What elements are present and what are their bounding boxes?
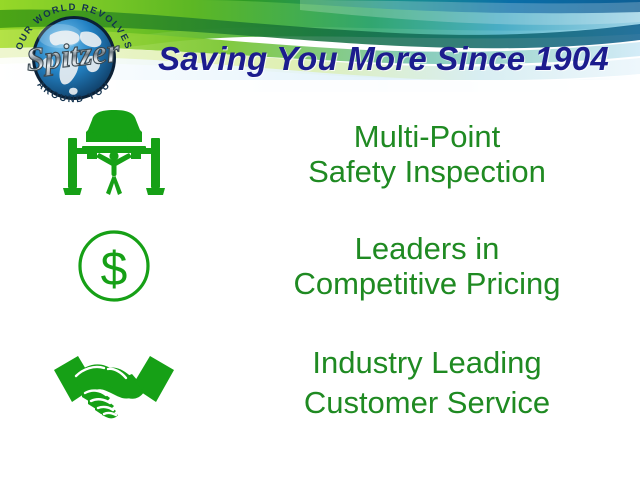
page-title: Saving You More Since 1904 [158,40,636,78]
feature-text: Multi-Point Safety Inspection [228,119,640,189]
feature-line-1: Industry Leading [228,343,626,383]
feature-list: Multi-Point Safety Inspection $ Leaders … [0,96,640,446]
feature-text: Leaders in Competitive Pricing [228,231,640,301]
handshake-icon [52,340,176,426]
car-on-lift-icon [62,108,166,200]
feature-line-2: Competitive Pricing [228,266,626,301]
feature-line-2: Safety Inspection [228,154,626,189]
svg-text:$: $ [101,243,128,296]
dollar-circle-icon: $ [75,227,153,305]
feature-icon-cell: $ [0,227,228,305]
feature-row-competitive-pricing: $ Leaders in Competitive Pricing [0,214,640,318]
feature-line-1: Multi-Point [228,119,626,154]
feature-row-safety-inspection: Multi-Point Safety Inspection [0,102,640,206]
promo-slide: Saving You More Since 1904 [0,0,640,480]
feature-line-1: Leaders in [228,231,626,266]
feature-text: Industry Leading Customer Service [228,343,640,422]
feature-icon-cell [0,108,228,200]
feature-row-customer-service: Industry Leading Customer Service [0,328,640,438]
feature-icon-cell [0,340,228,426]
feature-line-2: Customer Service [228,383,626,423]
